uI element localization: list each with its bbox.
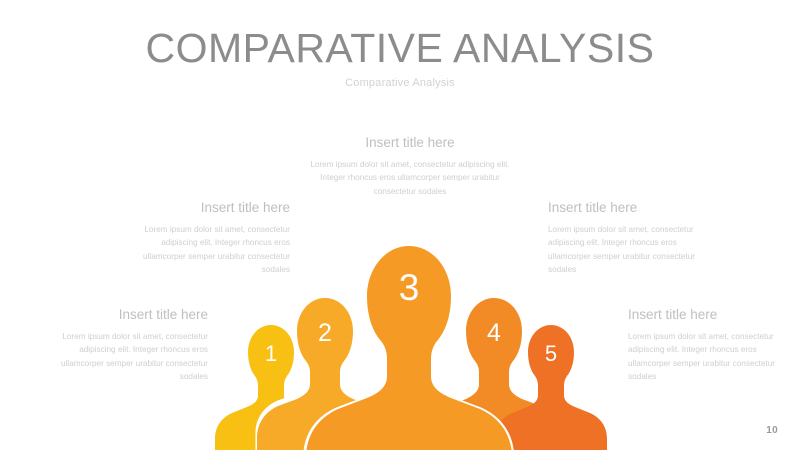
callout-upper-left-title: Insert title here [118, 200, 290, 216]
callout-lower-right-body: Lorem ipsum dolor sit amet, consectetur … [628, 330, 800, 383]
callout-upper-right-title: Insert title here [548, 200, 720, 216]
callout-upper-left: Insert title here Lorem ipsum dolor sit … [118, 200, 290, 276]
page-number: 10 [766, 425, 778, 436]
callout-upper-right-body: Lorem ipsum dolor sit amet, consectetur … [548, 223, 720, 276]
callout-center: Insert title here Lorem ipsum dolor sit … [300, 135, 520, 198]
callout-upper-right: Insert title here Lorem ipsum dolor sit … [548, 200, 720, 276]
figure-4-number: 4 [487, 319, 501, 347]
figure-3-number: 3 [399, 267, 420, 308]
callout-lower-left: Insert title here Lorem ipsum dolor sit … [36, 307, 208, 383]
callout-upper-left-body: Lorem ipsum dolor sit amet, consectetur … [118, 223, 290, 276]
callout-center-body: Lorem ipsum dolor sit amet, consectetur … [300, 158, 520, 198]
slide-canvas: COMPARATIVE ANALYSIS Comparative Analysi… [0, 0, 800, 450]
callout-lower-right: Insert title here Lorem ipsum dolor sit … [628, 307, 800, 383]
callout-center-title: Insert title here [300, 135, 520, 151]
callout-lower-right-title: Insert title here [628, 307, 800, 323]
figure-1-number: 1 [265, 341, 277, 366]
callout-lower-left-title: Insert title here [36, 307, 208, 323]
figure-5-number: 5 [545, 341, 557, 366]
callout-lower-left-body: Lorem ipsum dolor sit amet, consectetur … [36, 330, 208, 383]
figure-2-number: 2 [318, 319, 332, 347]
